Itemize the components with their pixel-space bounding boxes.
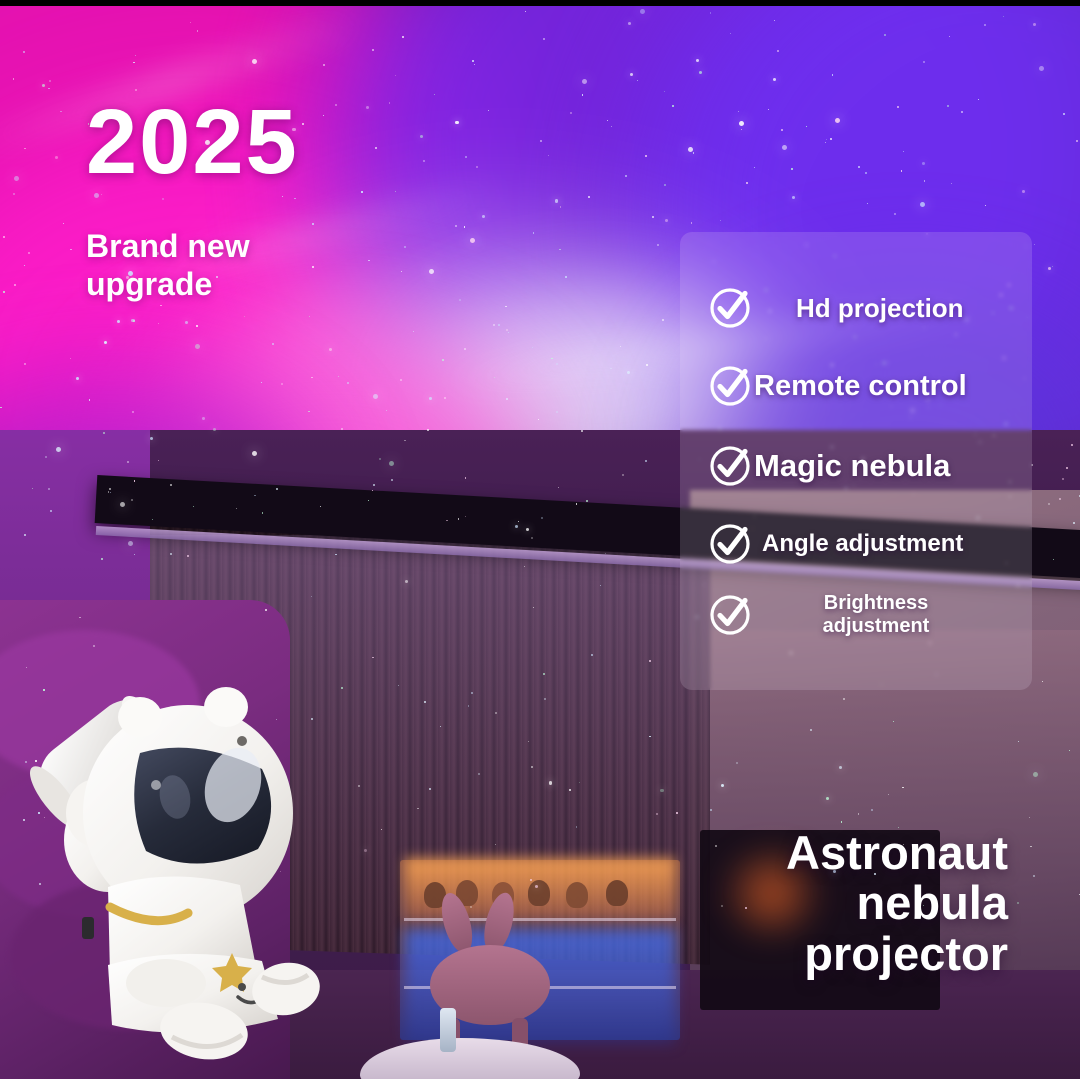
check-circle-icon <box>708 364 752 408</box>
feature-label: Brightness adjustment <box>796 592 956 638</box>
product-poster: 2025 Brand new upgrade Hd projection Rem… <box>0 0 1080 1079</box>
check-circle-icon <box>708 444 752 488</box>
feature-list-panel: Hd projection Remote control Magic nebul… <box>680 232 1032 690</box>
feature-label: Angle adjustment <box>762 530 963 558</box>
subtitle-line-2: upgrade <box>86 266 250 304</box>
feature-label: Hd projection <box>796 293 964 324</box>
product-title-line-3: projector <box>678 929 1008 979</box>
feature-label: Remote control <box>754 370 967 403</box>
feature-item-remote-control: Remote control <box>708 364 1008 408</box>
check-circle-icon <box>708 286 752 330</box>
year-badge: 2025 <box>86 96 299 188</box>
top-black-bar <box>0 0 1080 6</box>
feature-item-angle-adjustment: Angle adjustment <box>708 522 1008 566</box>
check-circle-icon <box>708 593 752 637</box>
feature-item-magic-nebula: Magic nebula <box>708 444 1008 488</box>
product-title-line-2: nebula <box>678 878 1008 928</box>
product-title: Astronaut nebula projector <box>678 828 1008 979</box>
feature-item-brightness-adjustment: Brightness adjustment <box>708 592 1008 638</box>
astronaut-projector-product <box>0 645 330 1065</box>
subtitle-block: Brand new upgrade <box>86 228 250 304</box>
feature-label: Magic nebula <box>754 448 950 484</box>
check-circle-icon <box>708 522 752 566</box>
product-title-line-1: Astronaut <box>678 828 1008 878</box>
feature-item-hd-projection: Hd projection <box>708 286 1008 330</box>
subtitle-line-1: Brand new <box>86 228 250 266</box>
